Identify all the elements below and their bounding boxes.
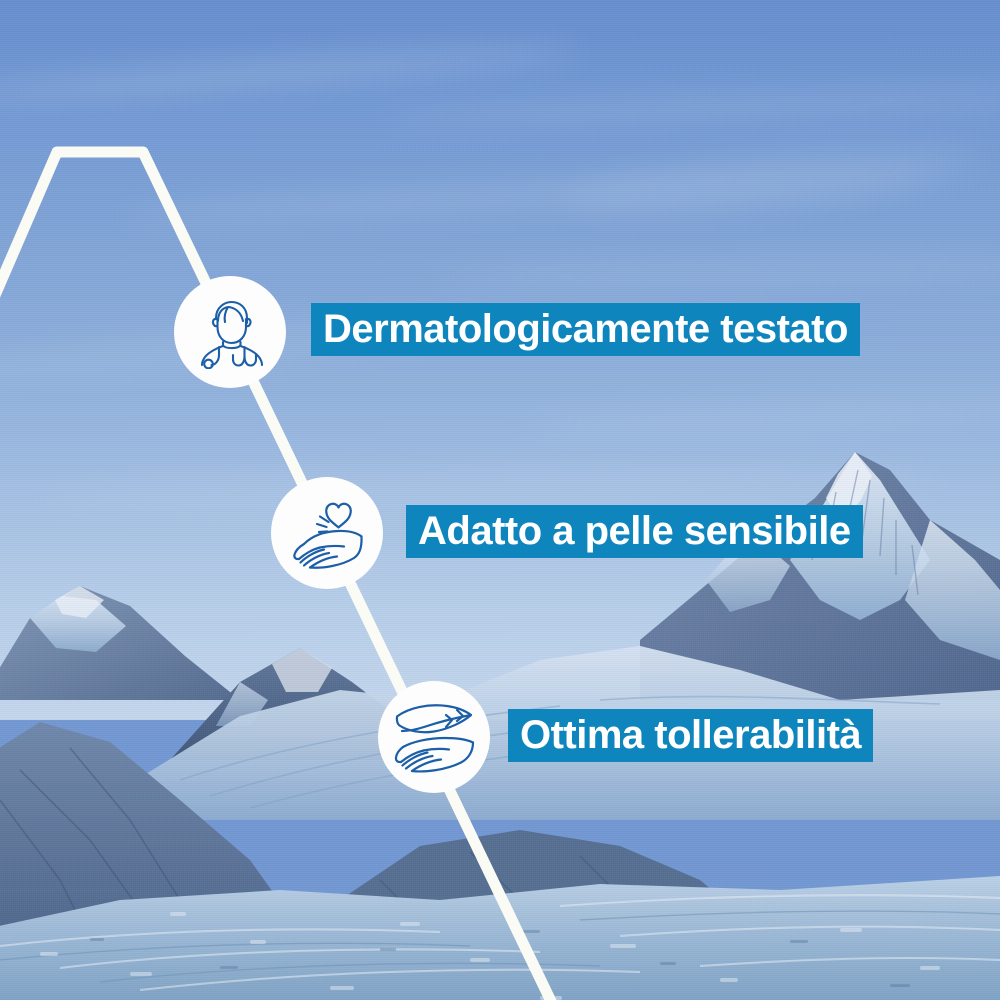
feature-label-banner-excellent-tolerability: Ottima tollerabilità bbox=[508, 709, 873, 762]
feature-label-text: Adatto a pelle sensibile bbox=[418, 509, 851, 554]
hand-leaf-icon bbox=[391, 700, 477, 774]
feature-label-banner-suitable-sensitive-skin: Adatto a pelle sensibile bbox=[406, 505, 863, 558]
background-photo bbox=[0, 0, 1000, 1000]
feature-icon-bubble-excellent-tolerability[interactable] bbox=[378, 681, 490, 793]
feature-icon-bubble-suitable-sensitive-skin[interactable] bbox=[271, 477, 383, 589]
photo-grain bbox=[0, 0, 1000, 1000]
promo-graphic: Dermatologicamente testato Adatto a pell… bbox=[0, 0, 1000, 1000]
feature-label-banner-dermatologically-tested: Dermatologicamente testato bbox=[311, 303, 860, 356]
feature-icon-bubble-dermatologically-tested[interactable] bbox=[174, 276, 286, 388]
doctor-stethoscope-icon bbox=[193, 295, 267, 369]
hand-heart-icon bbox=[286, 496, 368, 570]
feature-label-text: Ottima tollerabilità bbox=[520, 713, 861, 758]
feature-label-text: Dermatologicamente testato bbox=[323, 307, 848, 352]
